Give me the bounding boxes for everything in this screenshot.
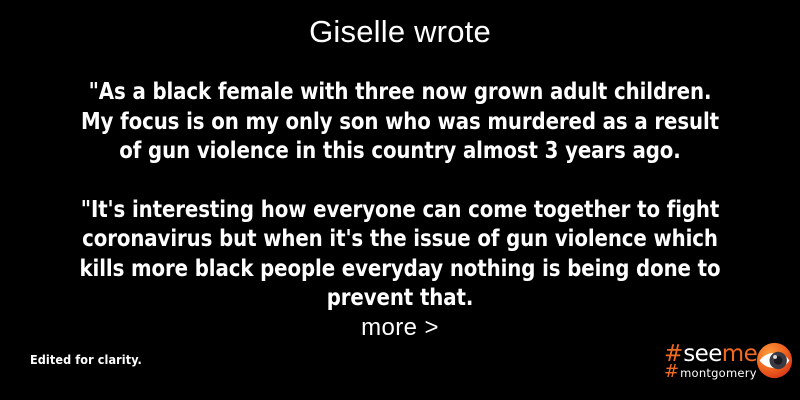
logo-wordmark: # see me # montgomery [664, 339, 756, 383]
eye-icon [756, 342, 793, 379]
quote-line: kills more black people everyday nothing… [56, 255, 744, 285]
logo-text-see: see [683, 343, 721, 365]
quote-line: My focus is on my only son who was murde… [56, 108, 744, 138]
quote-body: "As a black female with three now grown … [40, 78, 760, 314]
edited-for-clarity-note: Edited for clarity. [30, 352, 142, 368]
social-quote-card: Giselle wrote "As a black female with th… [0, 0, 800, 400]
page-title: Giselle wrote [0, 13, 800, 51]
quote-paragraph: "As a black female with three now grown … [56, 78, 744, 167]
hash-icon-secondary: # [664, 364, 679, 379]
logo-text-montgomery: montgomery [680, 366, 757, 381]
quote-paragraph: "It's interesting how everyone can come … [56, 196, 744, 314]
quote-line: "As a black female with three now grown … [56, 78, 744, 108]
logo-line-montgomery: # montgomery [664, 364, 756, 379]
quote-line: prevent that. [56, 284, 744, 314]
seeme-montgomery-logo[interactable]: # see me # montgomery [664, 337, 796, 385]
logo-text-me: me [722, 343, 757, 365]
quote-line: "It's interesting how everyone can come … [56, 196, 744, 226]
quote-line: coronavirus but when it's the issue of g… [56, 225, 744, 255]
quote-line: of gun violence in this country almost 3… [56, 137, 744, 167]
